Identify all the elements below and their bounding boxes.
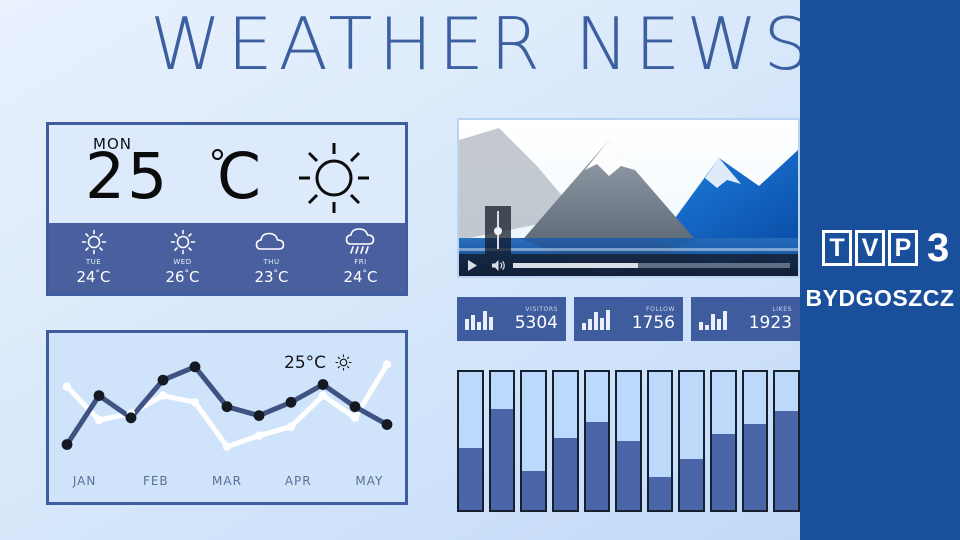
video-player[interactable] (457, 118, 800, 278)
brand-city-label: BYDGOSZCZ (800, 285, 960, 312)
stat-card-likes[interactable]: LIKES 1923 (691, 297, 800, 341)
sun-icon (170, 229, 196, 255)
x-tick-mar: MAR (191, 474, 262, 488)
volume-slider-knob[interactable] (494, 227, 502, 235)
stats-row: VISITORS 5304 FOLLOW 1756 LIKES 1923 (457, 297, 800, 341)
mini-bar-chart-icon (582, 308, 610, 330)
tvp-letter-v: V (855, 230, 885, 266)
line-point (95, 416, 103, 424)
stat-value: 5304 (515, 315, 558, 332)
bar-column[interactable] (615, 370, 642, 512)
bar-column[interactable] (552, 370, 579, 512)
bar-fill (459, 448, 482, 510)
line-point (350, 401, 361, 412)
forecast-day-wed: WED 26°C (138, 223, 227, 293)
line-point (190, 361, 201, 372)
tvp-letter-t: T (822, 230, 852, 266)
line-point (158, 375, 169, 386)
cloud-icon (255, 229, 289, 255)
sun-icon (335, 354, 352, 371)
forecast-temp: 24°C (343, 268, 377, 286)
x-tick-feb: FEB (120, 474, 191, 488)
line-point (255, 431, 263, 439)
line-point (223, 443, 231, 451)
line-point (191, 398, 199, 406)
video-progress-bar[interactable] (513, 263, 790, 268)
line-point (351, 414, 359, 422)
brand-panel: T V P 3 BYDGOSZCZ (800, 0, 960, 540)
volume-slider[interactable] (485, 206, 511, 254)
bar-fill (775, 411, 798, 510)
sun-icon (81, 229, 107, 255)
temperature-line-chart: 25°C JAN FEB MAR APR MAY (46, 330, 408, 505)
forecast-temp: 24°C (76, 268, 110, 286)
bar-column[interactable] (520, 370, 547, 512)
x-tick-apr: APR (263, 474, 334, 488)
sun-icon (297, 141, 371, 220)
line-point (62, 439, 73, 450)
forecast-day-tue: TUE 24°C (49, 223, 138, 293)
chart-annotation: 25°C (284, 353, 352, 373)
tvp-letter-p: P (888, 230, 918, 266)
forecast-day-label: TUE (86, 258, 101, 266)
forecast-day-label: THU (263, 258, 279, 266)
video-control-bar (459, 254, 798, 276)
bar-fill (649, 477, 672, 510)
bar-fill (491, 409, 514, 510)
bar-fill (522, 471, 545, 510)
forecast-temp: 26°C (165, 268, 199, 286)
line-point (382, 419, 393, 430)
line-point (159, 391, 167, 399)
forecast-temp: 23°C (254, 268, 288, 286)
x-tick-jan: JAN (49, 474, 120, 488)
line-point (318, 379, 329, 390)
bar-column[interactable] (584, 370, 611, 512)
forecast-strip: TUE 24°C WED 26°C (49, 223, 405, 293)
x-tick-may: MAY (334, 474, 405, 488)
current-temperature: 25 (85, 141, 169, 213)
line-point (286, 397, 297, 408)
current-weather-main: MON 25 C (49, 125, 405, 225)
bar-fill (554, 438, 577, 510)
volume-button[interactable] (485, 259, 511, 272)
line-point (254, 410, 265, 421)
activity-bar-chart (457, 370, 800, 512)
bar-fill (680, 459, 703, 510)
line-point (63, 383, 71, 391)
bar-fill (744, 424, 767, 510)
volume-icon (491, 259, 506, 272)
temperature-unit: C (217, 141, 261, 213)
bar-column[interactable] (678, 370, 705, 512)
mini-bar-chart-icon (465, 308, 493, 330)
line-point (94, 390, 105, 401)
stat-card-follow[interactable]: FOLLOW 1756 (574, 297, 683, 341)
forecast-day-label: WED (173, 258, 191, 266)
bar-fill (586, 422, 609, 510)
stat-label: FOLLOW (632, 307, 675, 313)
play-icon (467, 259, 478, 272)
forecast-day-thu: THU 23°C (227, 223, 316, 293)
bar-fill (617, 441, 640, 510)
stat-label: LIKES (749, 307, 792, 313)
forecast-day-label: FRI (354, 258, 366, 266)
line-point (222, 401, 233, 412)
stat-text: LIKES 1923 (749, 307, 792, 332)
bar-column[interactable] (773, 370, 800, 512)
line-point (126, 412, 137, 423)
play-button[interactable] (459, 259, 485, 272)
current-weather-card: MON 25 C (46, 122, 408, 296)
stat-text: VISITORS 5304 (515, 307, 558, 332)
line-point (319, 391, 327, 399)
bar-column[interactable] (647, 370, 674, 512)
video-progress-fill (513, 263, 638, 268)
stat-card-visitors[interactable]: VISITORS 5304 (457, 297, 566, 341)
line-point (287, 423, 295, 431)
tvp-logo: T V P 3 (822, 228, 949, 268)
chart-annotation-text: 25°C (284, 353, 326, 373)
tvp-channel-number: 3 (927, 228, 949, 268)
stat-label: VISITORS (515, 307, 558, 313)
bar-column[interactable] (457, 370, 484, 512)
forecast-day-fri: FRI 24°C (316, 223, 405, 293)
stat-text: FOLLOW 1756 (632, 307, 675, 332)
stat-value: 1923 (749, 315, 792, 332)
bar-column[interactable] (489, 370, 516, 512)
rain-cloud-icon (344, 229, 378, 255)
page-title: WEATHER NEWS (150, 2, 815, 86)
chart-x-axis-labels: JAN FEB MAR APR MAY (49, 474, 405, 488)
bar-column[interactable] (710, 370, 737, 512)
stat-value: 1756 (632, 315, 675, 332)
bar-fill (712, 434, 735, 510)
weather-news-dashboard: WEATHER NEWS MON 25 C (0, 0, 960, 540)
bar-column[interactable] (742, 370, 769, 512)
mini-bar-chart-icon (699, 308, 727, 330)
line-point (383, 360, 391, 368)
